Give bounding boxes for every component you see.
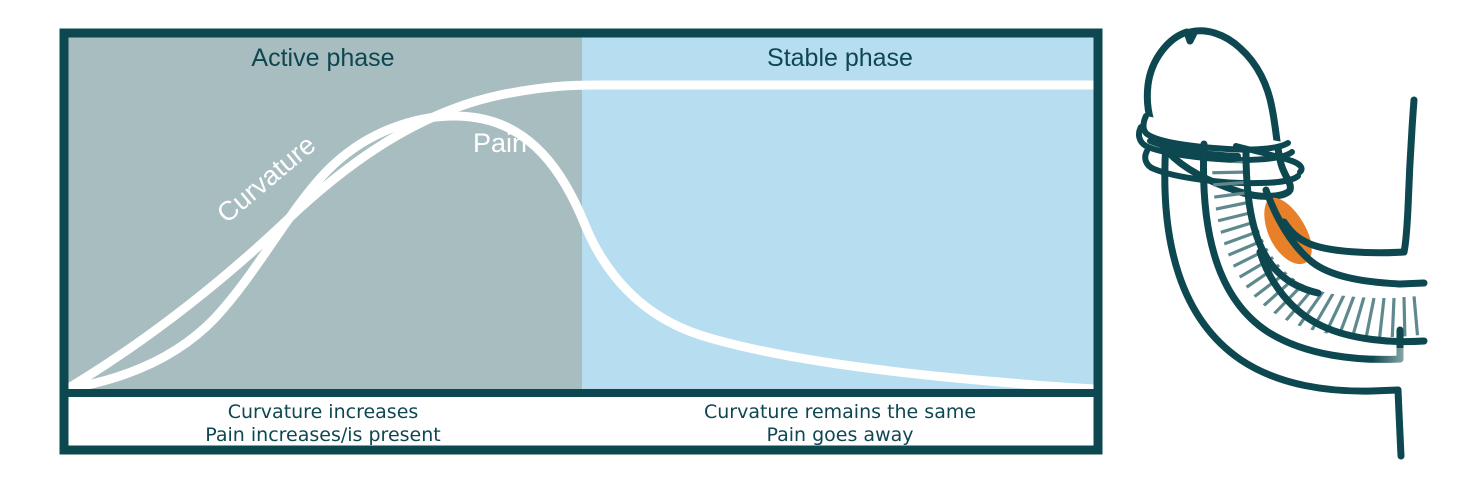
stable-phase-caption-line1: Curvature remains the same bbox=[704, 401, 976, 423]
pain-curve-label: Pain bbox=[473, 128, 527, 158]
lower-right-limb bbox=[1398, 390, 1401, 456]
plaque-outline bbox=[1266, 190, 1424, 284]
stable-phase-caption-line2: Pain goes away bbox=[767, 424, 914, 446]
stable-phase-title: Stable phase bbox=[767, 44, 913, 72]
peyronies-phases-figure: Active phase Stable phase Curvature Pain… bbox=[0, 0, 1471, 482]
active-phase-caption-line1: Curvature increases bbox=[228, 401, 419, 423]
chart-panel: Active phase Stable phase Curvature Pain… bbox=[64, 33, 1098, 450]
active-phase-caption-line2: Pain increases/is present bbox=[205, 424, 440, 446]
figure-canvas: Active phase Stable phase Curvature Pain… bbox=[0, 0, 1471, 482]
urethra-fade-mask bbox=[1372, 348, 1434, 378]
upper-right-limb bbox=[1404, 100, 1414, 252]
active-phase-title: Active phase bbox=[251, 44, 394, 72]
anatomy-illustration bbox=[1139, 31, 1434, 456]
